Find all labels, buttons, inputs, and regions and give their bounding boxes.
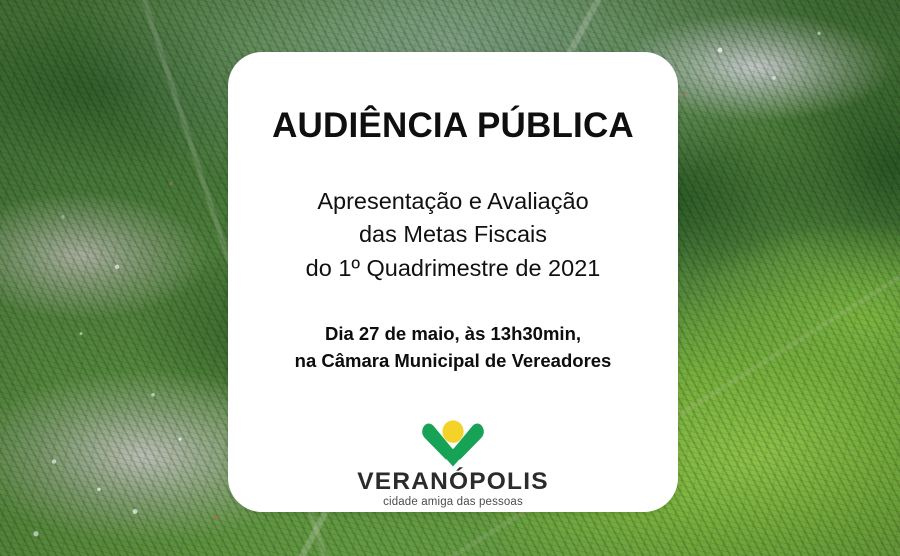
- veranopolis-person-v-icon: [420, 419, 486, 467]
- logo-wordmark: VERANÓPOLIS: [357, 470, 549, 495]
- logo-tagline: cidade amiga das pessoas: [383, 497, 523, 509]
- page-title: AUDIÊNCIA PÚBLICA: [272, 108, 634, 143]
- event-subtitle-line-2: das Metas Fiscais: [306, 218, 601, 251]
- event-subtitle-line-3: do 1º Quadrimestre de 2021: [306, 252, 601, 285]
- announcement-card: AUDIÊNCIA PÚBLICA Apresentação e Avaliaç…: [228, 52, 678, 512]
- event-subtitle: Apresentação e Avaliação das Metas Fisca…: [306, 185, 601, 285]
- event-subtitle-line-1: Apresentação e Avaliação: [306, 185, 601, 218]
- event-datetime-location: Dia 27 de maio, às 13h30min, na Câmara M…: [295, 321, 612, 375]
- veranopolis-logo: VERANÓPOLIS cidade amiga das pessoas Sec…: [357, 419, 549, 512]
- event-datetime-line-2: na Câmara Municipal de Vereadores: [295, 348, 612, 375]
- event-datetime-line-1: Dia 27 de maio, às 13h30min,: [295, 321, 612, 348]
